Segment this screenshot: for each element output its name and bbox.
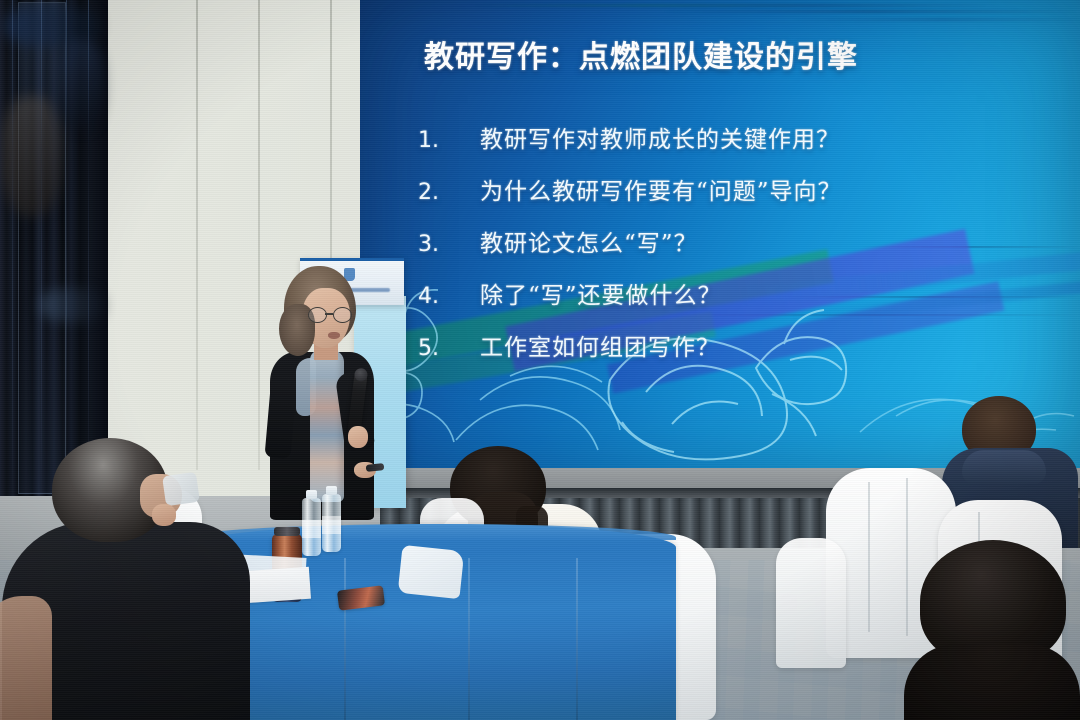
chair-cover xyxy=(776,538,846,668)
napkin xyxy=(398,545,465,599)
list-item-text: 除了“写”还要做什么？ xyxy=(480,276,722,310)
list-item: 4. 除了“写”还要做什么？ xyxy=(418,276,1058,310)
list-item-text: 教研写作对教师成长的关键作用？ xyxy=(480,120,840,154)
panel-reflection xyxy=(58,40,104,130)
list-item-number: 1. xyxy=(418,128,480,153)
glasses-icon xyxy=(308,307,354,322)
presentation-clicker xyxy=(366,463,385,472)
slide-title: 教研写作：点燃团队建设的引擎 xyxy=(424,32,1024,76)
attendee-right-front xyxy=(900,540,1080,720)
slide-bullet-list: 1. 教研写作对教师成长的关键作用？ 2. 为什么教研写作要有“问题”导向？ 3… xyxy=(418,120,1058,380)
bottle-cap xyxy=(306,490,317,499)
list-item: 5. 工作室如何组团写作？ xyxy=(418,328,1058,362)
screen-streak xyxy=(660,10,1080,13)
panel-reflection xyxy=(2,96,62,216)
bottle-label xyxy=(302,520,321,538)
list-item: 2. 为什么教研写作要有“问题”导向？ xyxy=(418,172,1058,206)
list-item-number: 3. xyxy=(418,232,480,257)
list-item-text: 为什么教研写作要有“问题”导向？ xyxy=(480,172,842,206)
screen-streak xyxy=(470,4,990,7)
tablecloth-fold xyxy=(344,558,346,720)
list-item-text: 工作室如何组团写作？ xyxy=(480,328,720,362)
list-item-text: 教研论文怎么“写”？ xyxy=(480,224,698,258)
list-item-number: 2. xyxy=(418,180,480,205)
chair-crease xyxy=(868,482,870,632)
list-item-number: 5. xyxy=(418,336,480,361)
tablecloth-fold xyxy=(576,558,578,720)
attendee-hood xyxy=(962,450,1046,484)
list-item-number: 4. xyxy=(418,284,480,309)
microphone-head xyxy=(354,367,368,381)
bottle-label xyxy=(322,516,341,534)
bottle-cap xyxy=(326,486,337,495)
thermos-lid xyxy=(274,527,300,536)
panel-glint xyxy=(12,0,13,500)
attendee-held-paper xyxy=(162,472,200,506)
attendee-far-left xyxy=(0,596,52,720)
wall-seam xyxy=(196,0,198,470)
panel-glint xyxy=(41,0,42,500)
attendee-hair-torso xyxy=(904,644,1080,720)
attendee-hand xyxy=(152,504,176,526)
panel-reflection xyxy=(40,288,104,322)
speaker-mouth xyxy=(328,332,340,339)
screen-streak xyxy=(790,18,1080,21)
list-item: 1. 教研写作对教师成长的关键作用？ xyxy=(418,120,1058,154)
list-item: 3. 教研论文怎么“写”？ xyxy=(418,224,1058,258)
wall-seam xyxy=(258,0,260,470)
panel-glint xyxy=(88,0,89,500)
attendee-shoulder xyxy=(0,596,52,720)
speaker-right-hand xyxy=(348,426,368,448)
speaker-scarf xyxy=(310,350,344,502)
conference-photo-scene: 教研写作：点燃团队建设的引擎 1. 教研写作对教师成长的关键作用？ 2. 为什么… xyxy=(0,0,1080,720)
attendee-left xyxy=(46,438,262,720)
glasses-bridge xyxy=(325,313,333,315)
decorative-dark-panel xyxy=(0,0,108,500)
speaker-presenter xyxy=(262,266,402,520)
water-bottle xyxy=(322,494,341,552)
panel-glint xyxy=(66,0,67,500)
glasses-lens-right xyxy=(333,307,352,323)
water-bottle xyxy=(302,498,321,556)
tablecloth-fold xyxy=(468,558,470,720)
glasses-lens-left xyxy=(308,307,327,323)
